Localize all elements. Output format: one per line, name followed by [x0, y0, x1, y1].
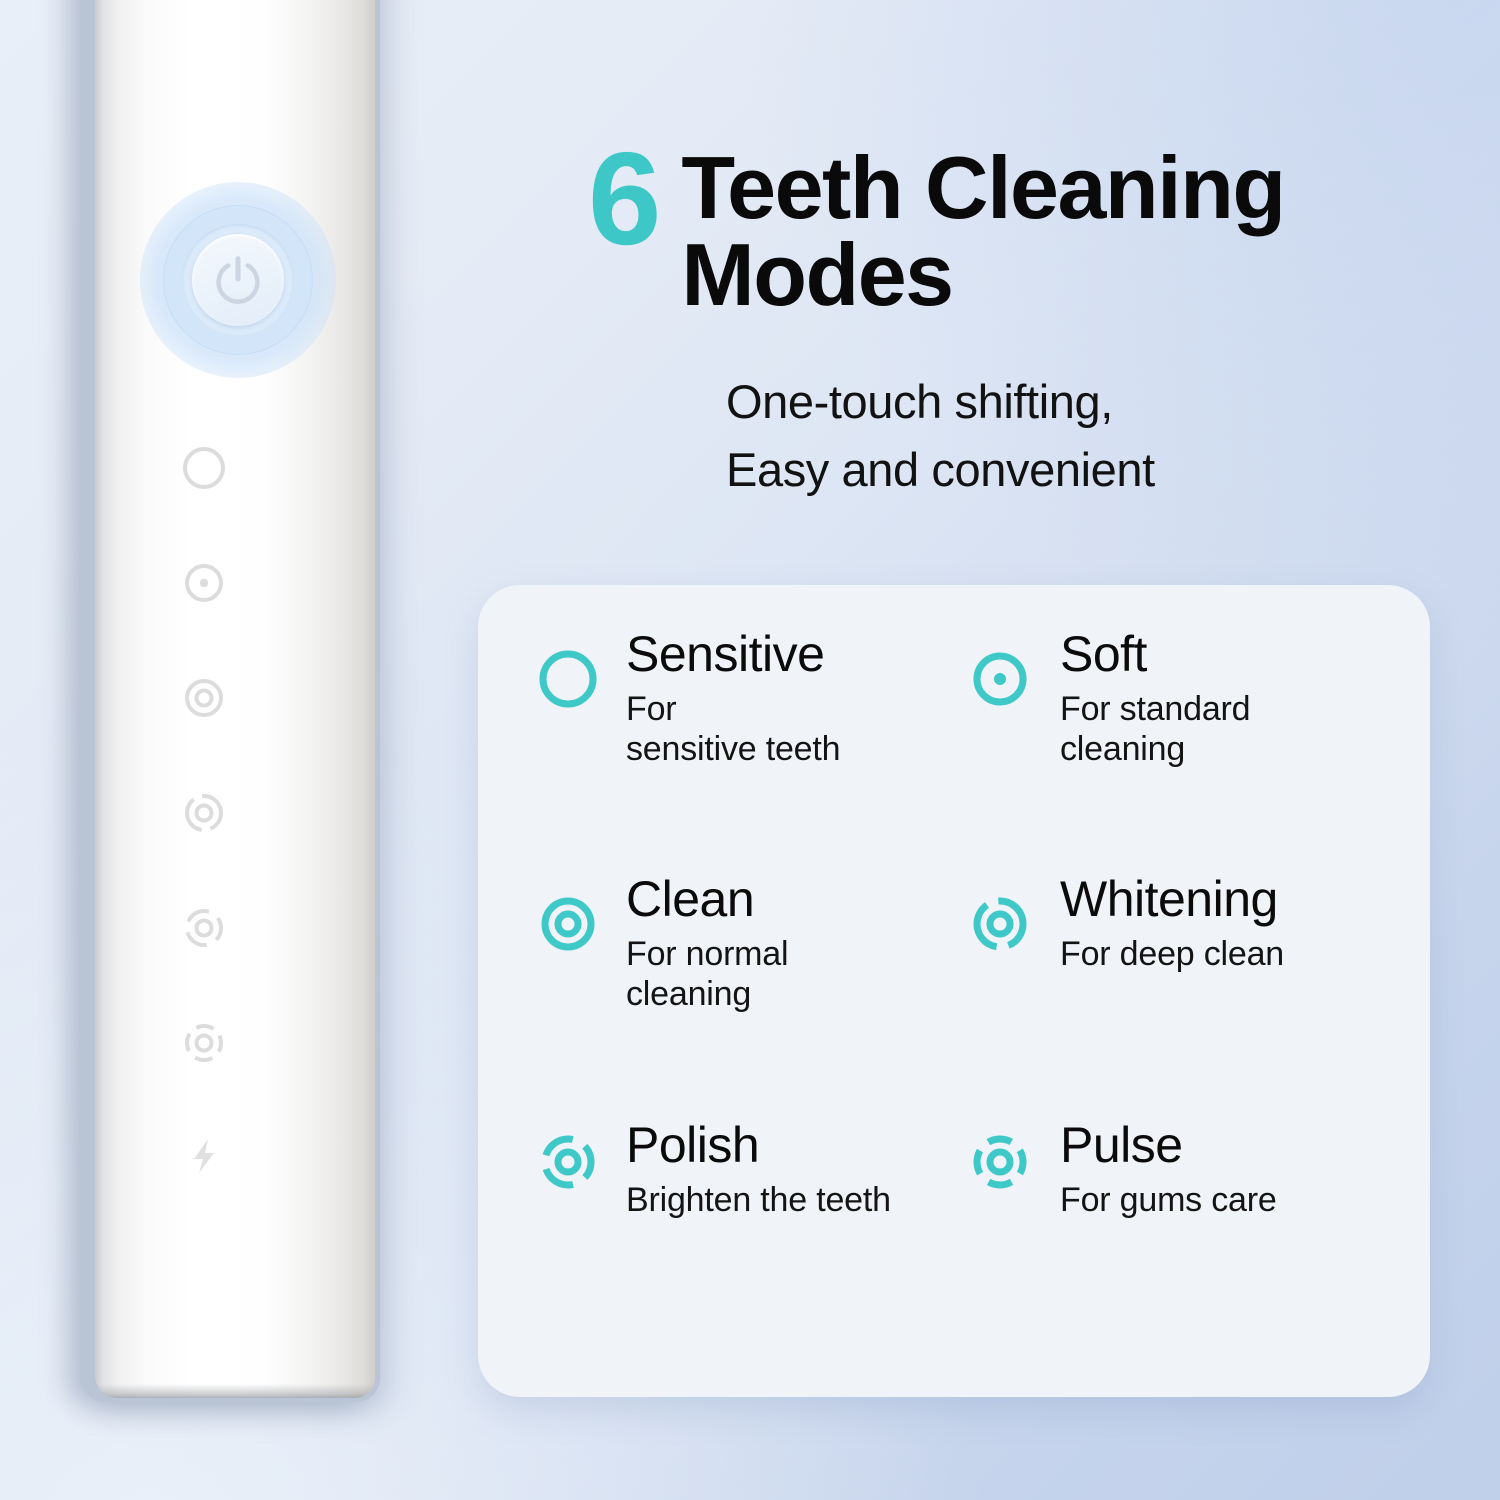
mode-desc-line-1: For: [626, 689, 840, 729]
indicator-mode-ring-icon: [176, 440, 232, 496]
mode-desc-line-2: cleaning: [1060, 729, 1250, 769]
mode-title: Sensitive: [626, 627, 840, 681]
indicator-mode-quad-gap-ring-icon: [176, 1015, 232, 1071]
power-icon: [207, 249, 269, 311]
indicator-mode-double-ring-icon: [176, 670, 232, 726]
subtitle-line-2: Easy and convenient: [726, 436, 1486, 504]
mode-item-sensitive[interactable]: Sensitive For sensitive teeth: [532, 627, 964, 872]
indicator-mode-split-ring-icon: [176, 785, 232, 841]
toothbrush-handle: [74, 0, 380, 1402]
page-title: Teeth Cleaning Modes: [681, 138, 1468, 318]
headline-block: 6 Teeth Cleaning Modes: [588, 138, 1468, 318]
indicator-charging-bolt-icon: [176, 1128, 232, 1184]
mode-desc-line-1: For standard: [1060, 689, 1250, 729]
subtitle: One-touch shifting, Easy and convenient: [726, 368, 1486, 503]
mode-title: Pulse: [1060, 1118, 1277, 1172]
mode-title: Clean: [626, 872, 788, 926]
mode-item-whitening[interactable]: Whitening For deep clean: [964, 872, 1396, 1117]
mode-desc-line-1: For deep clean: [1060, 934, 1284, 974]
mode-double-ring-icon: [532, 888, 604, 960]
handle-bottom-edge: [95, 1384, 375, 1398]
modes-card: Sensitive For sensitive teeth Soft: [478, 585, 1430, 1397]
infographic-canvas: 6 Teeth Cleaning Modes One-touch shiftin…: [0, 0, 1500, 1500]
mode-desc-line-1: Brighten the teeth: [626, 1180, 891, 1220]
indicator-mode-ring-dot-icon: [176, 555, 232, 611]
mode-desc-line-2: cleaning: [626, 974, 788, 1014]
mode-item-soft[interactable]: Soft For standard cleaning: [964, 627, 1396, 872]
mode-desc-line-1: For gums care: [1060, 1180, 1277, 1220]
power-button[interactable]: [140, 182, 336, 378]
mode-title: Whitening: [1060, 872, 1284, 926]
mode-title: Polish: [626, 1118, 891, 1172]
mode-split-ring-icon: [964, 888, 1036, 960]
mode-ring-icon: [532, 643, 604, 715]
mode-count-number: 6: [588, 138, 659, 259]
subtitle-line-1: One-touch shifting,: [726, 368, 1486, 436]
mode-item-polish[interactable]: Polish Brighten the teeth: [532, 1118, 964, 1363]
background-gradient-topright: [750, 0, 1500, 650]
mode-tri-gap-ring-icon: [532, 1126, 604, 1198]
mode-desc-line-2: sensitive teeth: [626, 729, 840, 769]
mode-quad-gap-ring-icon: [964, 1126, 1036, 1198]
mode-title: Soft: [1060, 627, 1250, 681]
indicator-mode-tri-gap-ring-icon: [176, 900, 232, 956]
modes-grid: Sensitive For sensitive teeth Soft: [478, 585, 1430, 1397]
mode-desc-line-1: For normal: [626, 934, 788, 974]
mode-ring-dot-icon: [964, 643, 1036, 715]
mode-item-clean[interactable]: Clean For normal cleaning: [532, 872, 964, 1117]
mode-item-pulse[interactable]: Pulse For gums care: [964, 1118, 1396, 1363]
